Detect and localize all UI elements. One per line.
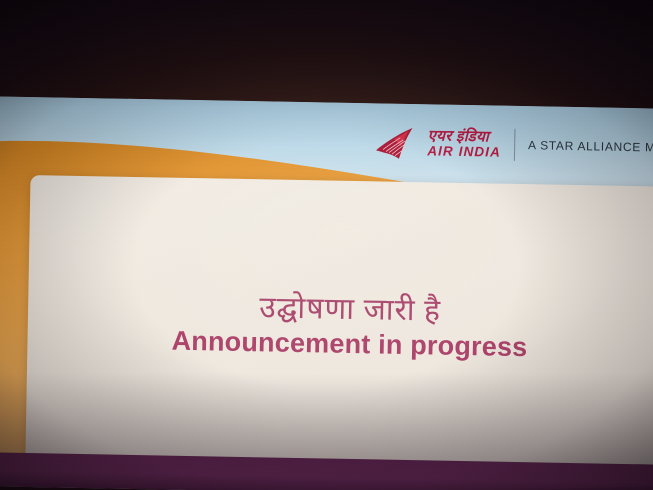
brand-divider [514,129,516,161]
ife-screen[interactable]: एयर इंडिया AIR INDIA A STAR ALLIANCE MEM… [0,96,653,490]
air-india-swan-icon [374,125,421,160]
announcement-message: उद्घोषणा जारी है Announcement in progres… [27,287,653,365]
air-india-wordmark: एयर इंडिया AIR INDIA [427,129,501,159]
ife-screen-frame: एयर इंडिया AIR INDIA A STAR ALLIANCE MEM… [0,96,653,490]
brand-bar: एयर इंडिया AIR INDIA A STAR ALLIANCE MEM [374,125,653,165]
cabin-photo: एयर इंडिया AIR INDIA A STAR ALLIANCE MEM… [0,0,653,490]
announcement-card: उद्घोषणा जारी है Announcement in progres… [25,175,653,477]
air-india-logo: एयर इंडिया AIR INDIA [374,125,501,161]
brand-name-latin: AIR INDIA [427,144,501,159]
star-alliance-label: A STAR ALLIANCE MEM [528,138,653,155]
